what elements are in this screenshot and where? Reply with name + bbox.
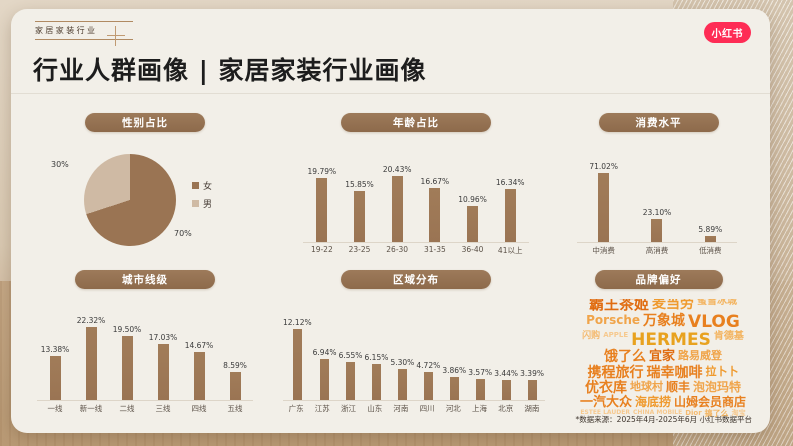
x-axis-label: 23-25 bbox=[341, 245, 379, 256]
word-cloud-term: HERMES bbox=[631, 332, 711, 349]
word-cloud-term: 泡泡玛特 bbox=[693, 381, 741, 395]
x-axis-label: 31-35 bbox=[416, 245, 454, 256]
word-cloud-term: APPLE bbox=[603, 332, 628, 349]
word-cloud-term: 麦当劳 bbox=[652, 299, 694, 313]
word-cloud-term: VLOG bbox=[688, 314, 740, 331]
bar-value-label: 3.39% bbox=[520, 369, 544, 378]
bar bbox=[392, 176, 403, 242]
bar bbox=[424, 372, 433, 400]
bar-column: 19.50% bbox=[109, 303, 145, 400]
consumption-axis bbox=[577, 242, 737, 243]
x-axis-label: 36-40 bbox=[454, 245, 492, 256]
bar-column: 17.03% bbox=[145, 303, 181, 400]
region-bar-chart: 12.12%6.94%6.55%6.15%5.30%4.72%3.86%3.57… bbox=[283, 303, 545, 401]
word-cloud-term: 山姆会员商店 bbox=[674, 396, 746, 409]
age-bar-chart: 19.79%15.85%20.43%16.67%10.96%16.34% 19-… bbox=[303, 149, 529, 243]
bar-column: 22.32% bbox=[73, 303, 109, 400]
word-cloud-term: 拉卜卜 bbox=[706, 366, 739, 380]
word-cloud-term: 海底捞 bbox=[635, 396, 671, 409]
word-cloud-term: 饿了么 bbox=[604, 350, 646, 364]
report-card: 家居家装行业 行业人群画像 | 家居家装行业画像 小红书 性别占比 30% 70… bbox=[11, 9, 770, 433]
region-x-labels: 广东江苏浙江山东河南四川河北上海北京湖南 bbox=[283, 403, 545, 414]
bar-value-label: 13.38% bbox=[41, 345, 70, 354]
bar-value-label: 15.85% bbox=[345, 180, 374, 189]
bar-column: 16.34% bbox=[491, 149, 529, 242]
kicker-rule-bottom bbox=[35, 39, 133, 40]
x-axis-label: 湖南 bbox=[519, 403, 545, 414]
word-cloud-term: Porsche bbox=[586, 314, 640, 331]
panel-title-city: 城市线级 bbox=[75, 270, 215, 289]
x-axis-label: 河南 bbox=[388, 403, 414, 414]
header-divider bbox=[11, 93, 770, 94]
bar-value-label: 6.94% bbox=[313, 348, 337, 357]
bar bbox=[293, 329, 302, 400]
brand-word-cloud: HelloKitty星巴克霸王茶姬麦当劳蜜雪冰城Porsche万象城VLOG闪购… bbox=[577, 299, 749, 417]
x-axis-label: 上海 bbox=[466, 403, 492, 414]
legend-swatch-female bbox=[192, 182, 199, 189]
bar-column: 10.96% bbox=[454, 149, 492, 242]
bar bbox=[505, 189, 516, 242]
consumption-bars: 71.02%23.10%5.89% bbox=[577, 149, 737, 242]
bar-value-label: 6.55% bbox=[339, 351, 363, 360]
x-axis-label: 高消费 bbox=[630, 245, 683, 256]
bar-column: 6.55% bbox=[338, 303, 364, 400]
bar-value-label: 16.67% bbox=[421, 177, 450, 186]
bar-value-label: 19.79% bbox=[308, 167, 337, 176]
legend-label-male: 男 bbox=[203, 197, 212, 210]
word-cloud-term: 地球村 bbox=[630, 381, 663, 395]
x-axis-label: 四川 bbox=[414, 403, 440, 414]
x-axis-label: 四线 bbox=[181, 403, 217, 414]
word-cloud-term: 闪购 bbox=[582, 332, 600, 349]
panel-title-consumption: 消费水平 bbox=[599, 113, 719, 132]
bar bbox=[528, 380, 537, 400]
bar-value-label: 12.12% bbox=[283, 318, 312, 327]
bar-column: 8.59% bbox=[217, 303, 253, 400]
city-bar-chart: 13.38%22.32%19.50%17.03%14.67%8.59% 一线新一… bbox=[37, 303, 253, 401]
bar bbox=[476, 379, 485, 400]
panel-title-region: 区域分布 bbox=[341, 270, 491, 289]
bar-value-label: 17.03% bbox=[149, 333, 178, 342]
bar bbox=[354, 191, 365, 243]
pie-label-female: 70% bbox=[174, 229, 192, 238]
legend-swatch-male bbox=[192, 200, 199, 207]
word-cloud-term: 顺丰 bbox=[666, 381, 690, 395]
legend-item-male: 男 bbox=[192, 197, 212, 210]
bar bbox=[122, 336, 133, 400]
city-x-labels: 一线新一线二线三线四线五线 bbox=[37, 403, 253, 414]
cross-ornament-vertical bbox=[115, 26, 116, 46]
cross-ornament-horizontal bbox=[107, 35, 125, 36]
pie-label-male: 30% bbox=[51, 160, 69, 169]
x-axis-label: 新一线 bbox=[73, 403, 109, 414]
bar-column: 6.15% bbox=[363, 303, 389, 400]
x-axis-label: 26-30 bbox=[378, 245, 416, 256]
x-axis-label: 19-22 bbox=[303, 245, 341, 256]
bar-value-label: 5.30% bbox=[390, 358, 414, 367]
consumption-x-labels: 中消费高消费低消费 bbox=[577, 245, 737, 256]
word-cloud-term: 蜜雪冰城 bbox=[697, 299, 737, 313]
word-cloud-term: 携程旅行 bbox=[588, 366, 644, 380]
gender-legend: 女 男 bbox=[192, 179, 212, 215]
xiaohongshu-logo: 小红书 bbox=[704, 22, 752, 43]
bar-column: 5.89% bbox=[684, 149, 737, 242]
word-cloud-term: 瑞幸咖啡 bbox=[647, 366, 703, 380]
bar-column: 15.85% bbox=[341, 149, 379, 242]
region-axis bbox=[283, 400, 545, 401]
word-cloud-term: 万象城 bbox=[643, 314, 685, 331]
bar-value-label: 5.89% bbox=[698, 225, 722, 234]
x-axis-label: 三线 bbox=[145, 403, 181, 414]
x-axis-label: 江苏 bbox=[309, 403, 335, 414]
word-cloud-term: 一汽大众 bbox=[580, 396, 632, 409]
bar-value-label: 8.59% bbox=[223, 361, 247, 370]
bar bbox=[502, 380, 511, 400]
word-cloud-term: 优衣库 bbox=[585, 381, 627, 395]
x-axis-label: 浙江 bbox=[335, 403, 361, 414]
x-axis-label: 二线 bbox=[109, 403, 145, 414]
bar-column: 13.38% bbox=[37, 303, 73, 400]
panel-age: 年龄占比 bbox=[301, 113, 531, 132]
bar-column: 20.43% bbox=[378, 149, 416, 242]
bar-value-label: 4.72% bbox=[416, 361, 440, 370]
bar bbox=[598, 173, 609, 242]
kicker-block: 家居家装行业 bbox=[35, 21, 133, 40]
bar bbox=[320, 359, 329, 400]
bar-value-label: 71.02% bbox=[589, 162, 618, 171]
panel-title-brand: 品牌偏好 bbox=[595, 270, 723, 289]
bar-column: 6.94% bbox=[312, 303, 338, 400]
page-title: 行业人群画像 | 家居家装行业画像 bbox=[33, 51, 427, 87]
bar-column: 12.12% bbox=[283, 303, 312, 400]
gender-pie-chart bbox=[84, 154, 176, 246]
city-bars: 13.38%22.32%19.50%17.03%14.67%8.59% bbox=[37, 303, 253, 400]
bar bbox=[467, 206, 478, 242]
word-cloud-term: 霸王茶姬 bbox=[589, 299, 649, 313]
bar-value-label: 3.44% bbox=[494, 369, 518, 378]
bar-column: 5.30% bbox=[389, 303, 415, 400]
bar-value-label: 23.10% bbox=[643, 208, 672, 217]
x-axis-label: 中消费 bbox=[577, 245, 630, 256]
bar-column: 3.57% bbox=[467, 303, 493, 400]
bar-value-label: 19.50% bbox=[113, 325, 142, 334]
bar-column: 3.44% bbox=[493, 303, 519, 400]
word-cloud-term: 肯德基 bbox=[714, 332, 744, 349]
panel-city: 城市线级 bbox=[35, 270, 255, 289]
legend-label-female: 女 bbox=[203, 179, 212, 192]
bar-column: 3.86% bbox=[441, 303, 467, 400]
x-axis-label: 北京 bbox=[493, 403, 519, 414]
x-axis-label: 一线 bbox=[37, 403, 73, 414]
bar bbox=[50, 356, 61, 400]
panel-gender: 性别占比 bbox=[35, 113, 255, 132]
bar-value-label: 3.57% bbox=[468, 368, 492, 377]
bar bbox=[398, 369, 407, 400]
bar-value-label: 10.96% bbox=[458, 195, 487, 204]
bar-value-label: 6.15% bbox=[365, 353, 389, 362]
bar bbox=[651, 219, 662, 242]
region-bars: 12.12%6.94%6.55%6.15%5.30%4.72%3.86%3.57… bbox=[283, 303, 545, 400]
bar-value-label: 22.32% bbox=[77, 316, 106, 325]
city-axis bbox=[37, 400, 253, 401]
panel-title-age: 年龄占比 bbox=[341, 113, 491, 132]
bar bbox=[429, 188, 440, 242]
bar-column: 19.79% bbox=[303, 149, 341, 242]
word-cloud-term: 宜家 bbox=[649, 350, 675, 364]
bar bbox=[194, 352, 205, 400]
bar-value-label: 20.43% bbox=[383, 165, 412, 174]
age-axis bbox=[303, 242, 529, 243]
x-axis-label: 河北 bbox=[440, 403, 466, 414]
consumption-bar-chart: 71.02%23.10%5.89% 中消费高消费低消费 bbox=[577, 149, 737, 243]
word-cloud-term: 路易威登 bbox=[678, 350, 722, 364]
data-source-footnote: *数据来源：2025年4月-2025年6月 小红书数据平台 bbox=[575, 414, 752, 425]
bar bbox=[316, 178, 327, 242]
bar bbox=[158, 344, 169, 400]
bar-value-label: 16.34% bbox=[496, 178, 525, 187]
legend-item-female: 女 bbox=[192, 179, 212, 192]
bar bbox=[86, 327, 97, 400]
bar-column: 4.72% bbox=[415, 303, 441, 400]
kicker-rule-top bbox=[35, 21, 133, 22]
age-x-labels: 19-2223-2526-3031-3536-4041以上 bbox=[303, 245, 529, 256]
bar bbox=[450, 377, 459, 400]
x-axis-label: 41以上 bbox=[491, 245, 529, 256]
bar-value-label: 14.67% bbox=[185, 341, 214, 350]
bar bbox=[346, 362, 355, 400]
bar-value-label: 3.86% bbox=[442, 366, 466, 375]
x-axis-label: 广东 bbox=[283, 403, 309, 414]
x-axis-label: 低消费 bbox=[684, 245, 737, 256]
bar-column: 16.67% bbox=[416, 149, 454, 242]
bar bbox=[372, 364, 381, 400]
age-bars: 19.79%15.85%20.43%16.67%10.96%16.34% bbox=[303, 149, 529, 242]
panel-brand: 品牌偏好 bbox=[571, 270, 746, 289]
panel-consumption: 消费水平 bbox=[571, 113, 746, 132]
bar-column: 3.39% bbox=[519, 303, 545, 400]
bar bbox=[230, 372, 241, 400]
bar-column: 14.67% bbox=[181, 303, 217, 400]
bar-column: 23.10% bbox=[630, 149, 683, 242]
x-axis-label: 五线 bbox=[217, 403, 253, 414]
panel-region: 区域分布 bbox=[301, 270, 531, 289]
panel-title-gender: 性别占比 bbox=[85, 113, 205, 132]
x-axis-label: 山东 bbox=[362, 403, 388, 414]
bar-column: 71.02% bbox=[577, 149, 630, 242]
